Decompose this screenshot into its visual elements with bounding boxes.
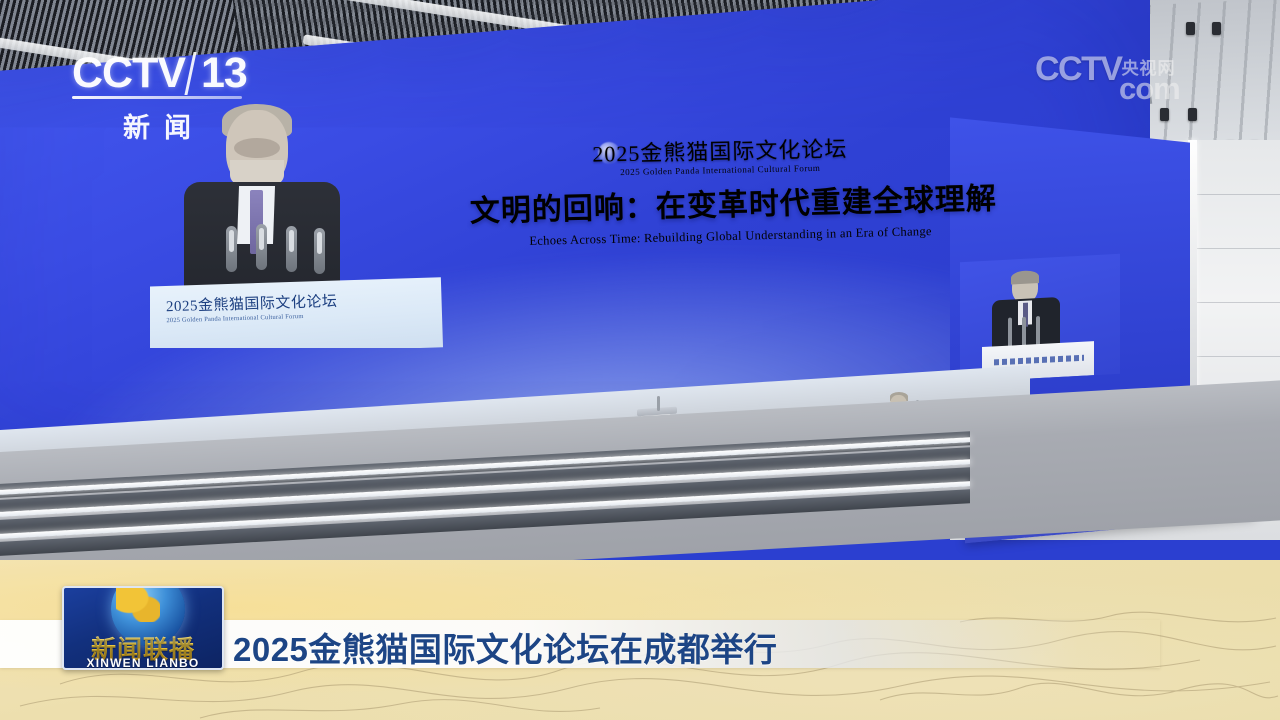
- microphone: [1022, 317, 1026, 347]
- microphone: [657, 396, 660, 411]
- channel-bug-row: CCTV 13: [72, 52, 252, 95]
- ceiling-spotlight: [1212, 22, 1221, 35]
- microphone: [314, 228, 325, 274]
- right-screen-speaker-feed: [960, 254, 1120, 382]
- led-event-title: 2025金熊猫国际文化论坛 2025 Golden Panda Internat…: [560, 137, 881, 179]
- microphone: [286, 226, 297, 272]
- program-logo-en: XINWEN LIANBO: [64, 656, 222, 670]
- microphone: [1036, 316, 1040, 346]
- headline-text: 2025金熊猫国际文化论坛在成都举行: [233, 623, 777, 671]
- watermark-brand: CCTV: [1035, 52, 1122, 86]
- channel-number-badge: 13: [184, 52, 256, 95]
- speaker-hair: [1011, 270, 1039, 284]
- channel-name-cn: 新闻: [72, 106, 242, 145]
- channel-bug: CCTV 13 新闻: [72, 52, 252, 145]
- watermark-domain: com: [1119, 73, 1230, 104]
- ceiling-spotlight: [1186, 22, 1195, 35]
- program-logo-xinwen-lianbo: 新闻联播 XINWEN LIANBO: [62, 586, 224, 670]
- ceiling-spotlight: [1188, 108, 1197, 121]
- microphone: [256, 224, 267, 270]
- ceiling-spotlight: [1160, 108, 1169, 121]
- channel-number: 13: [201, 52, 247, 95]
- led-theme-block: 文明的回响：在变革时代重建全球理解 Echoes Across Time: Re…: [469, 174, 990, 251]
- microphone: [1008, 317, 1012, 347]
- microphone: [226, 226, 237, 272]
- channel-network-name: CCTV: [72, 52, 185, 95]
- broadcast-frame: 2025金熊猫国际文化论坛 2025 Golden Panda Internat…: [0, 0, 1280, 720]
- cctv-com-watermark: CCTV 央视网 com: [1035, 52, 1230, 104]
- globe-landmass: [116, 586, 160, 622]
